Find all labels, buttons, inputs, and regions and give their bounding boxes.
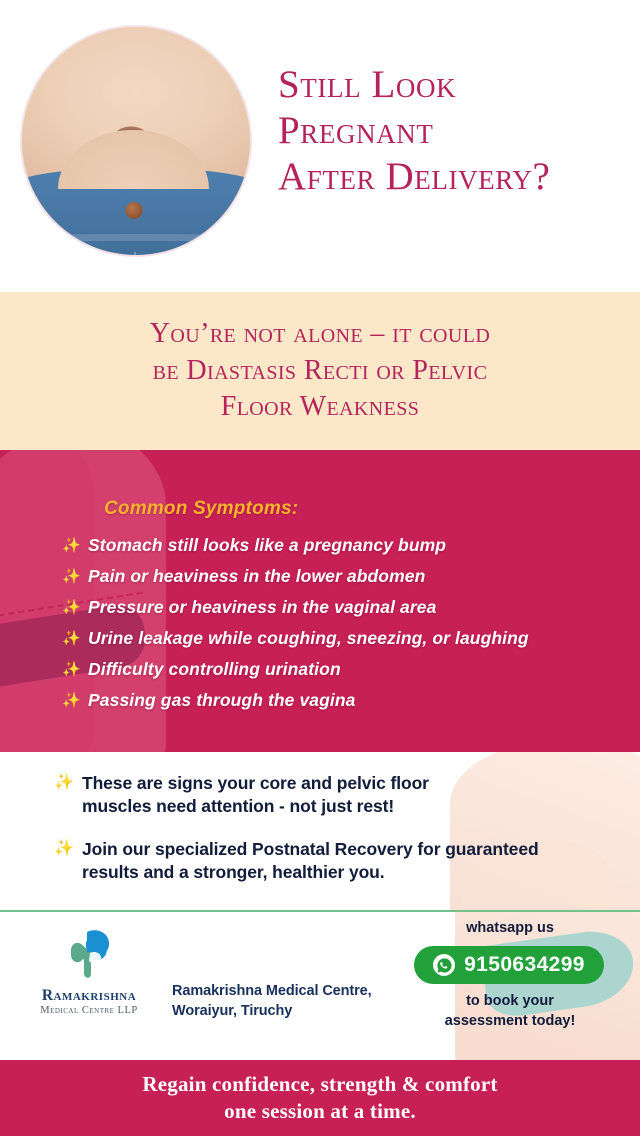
subheading-line-1: You’re not alone – it could [40, 316, 600, 353]
postpartum-belly-photo [22, 27, 250, 255]
bottom-line-1: Regain confidence, strength & comfort [142, 1071, 497, 1098]
logo-subtitle: Medical Centre LLP [14, 1005, 164, 1016]
bottom-banner: Regain confidence, strength & comfort on… [0, 1060, 640, 1136]
whatsapp-note-line-1: to book your [410, 992, 610, 1012]
sparkle-icon: ✨ [62, 693, 88, 708]
sparkle-icon: ✨ [62, 569, 88, 584]
whatsapp-button[interactable]: 9150634299 [414, 946, 604, 984]
whatsapp-note: to book your assessment today! [410, 992, 610, 1031]
symptoms-heading: Common Symptoms: [104, 498, 298, 520]
photo-seam-right [208, 245, 213, 255]
symptoms-list: ✨ Stomach still looks like a pregnancy b… [62, 530, 622, 716]
subheading-line-2: be Diastasis Recti or Pelvic [40, 353, 600, 390]
photo-jeans-button [125, 202, 142, 219]
list-item: ✨ Pressure or heaviness in the vaginal a… [62, 592, 622, 623]
photo-seam-center [134, 252, 136, 255]
sparkle-icon: ✨ [54, 838, 82, 860]
whatsapp-icon [433, 954, 455, 976]
subheading-line-3: Floor Weakness [40, 389, 600, 426]
sparkle-icon: ✨ [54, 772, 82, 794]
benefit-text: These are signs your core and pelvic flo… [82, 772, 429, 818]
bottom-banner-text: Regain confidence, strength & comfort on… [142, 1071, 497, 1126]
photo-seam-left [55, 245, 60, 255]
poster-root: Still Look Pregnant After Delivery? You’… [0, 0, 640, 1136]
headline-line-3: After Delivery? [278, 154, 628, 200]
header-section: Still Look Pregnant After Delivery? [0, 0, 640, 292]
clinic-address-line-2: Woraiyur, Tiruchy [172, 1002, 402, 1022]
sparkle-icon: ✨ [62, 662, 88, 677]
clinic-address-line-1: Ramakrishna Medical Centre, [172, 982, 402, 1002]
clinic-address: Ramakrishna Medical Centre, Woraiyur, Ti… [172, 982, 402, 1021]
benefit-1-line-1: These are signs your core and pelvic flo… [82, 772, 429, 795]
whatsapp-note-line-2: assessment today! [410, 1012, 610, 1032]
list-item: ✨ Urine leakage while coughing, sneezing… [62, 623, 622, 654]
benefit-2-line-1: Join our specialized Postnatal Recovery … [82, 838, 539, 861]
whatsapp-label: whatsapp us [410, 920, 610, 936]
symptom-label: Pain or heaviness in the lower abdomen [88, 566, 425, 587]
sparkle-icon: ✨ [62, 631, 88, 646]
whatsapp-number: 9150634299 [464, 953, 585, 977]
list-item: ✨ Pain or heaviness in the lower abdomen [62, 561, 622, 592]
symptom-label: Passing gas through the vagina [88, 690, 356, 711]
benefit-2-line-2: results and a stronger, healthier you. [82, 861, 539, 884]
symptom-label: Stomach still looks like a pregnancy bum… [88, 535, 446, 556]
brand-logo: Ramakrishna Medical Centre LLP [14, 928, 164, 1016]
benefit-item-2: ✨ Join our specialized Postnatal Recover… [54, 838, 614, 884]
subheading-text: You’re not alone – it could be Diastasis… [40, 316, 600, 427]
sparkle-icon: ✨ [62, 538, 88, 553]
headline-line-2: Pregnant [278, 108, 628, 154]
symptom-label: Urine leakage while coughing, sneezing, … [88, 628, 529, 649]
photo-waistband [22, 234, 250, 241]
subheading-band: You’re not alone – it could be Diastasis… [0, 292, 640, 450]
bottom-line-2: one session at a time. [142, 1098, 497, 1125]
sparkle-icon: ✨ [62, 600, 88, 615]
logo-mark-icon [57, 928, 121, 984]
benefit-1-line-2: muscles need attention - not just rest! [82, 795, 429, 818]
symptom-label: Difficulty controlling urination [88, 659, 341, 680]
benefit-text: Join our specialized Postnatal Recovery … [82, 838, 539, 884]
page-title: Still Look Pregnant After Delivery? [278, 62, 628, 200]
logo-name: Ramakrishna [14, 988, 164, 1004]
list-item: ✨ Difficulty controlling urination [62, 654, 622, 685]
headline-line-1: Still Look [278, 62, 628, 108]
benefit-item-1: ✨ These are signs your core and pelvic f… [54, 772, 554, 818]
list-item: ✨ Passing gas through the vagina [62, 685, 622, 716]
list-item: ✨ Stomach still looks like a pregnancy b… [62, 530, 622, 561]
symptom-label: Pressure or heaviness in the vaginal are… [88, 597, 436, 618]
